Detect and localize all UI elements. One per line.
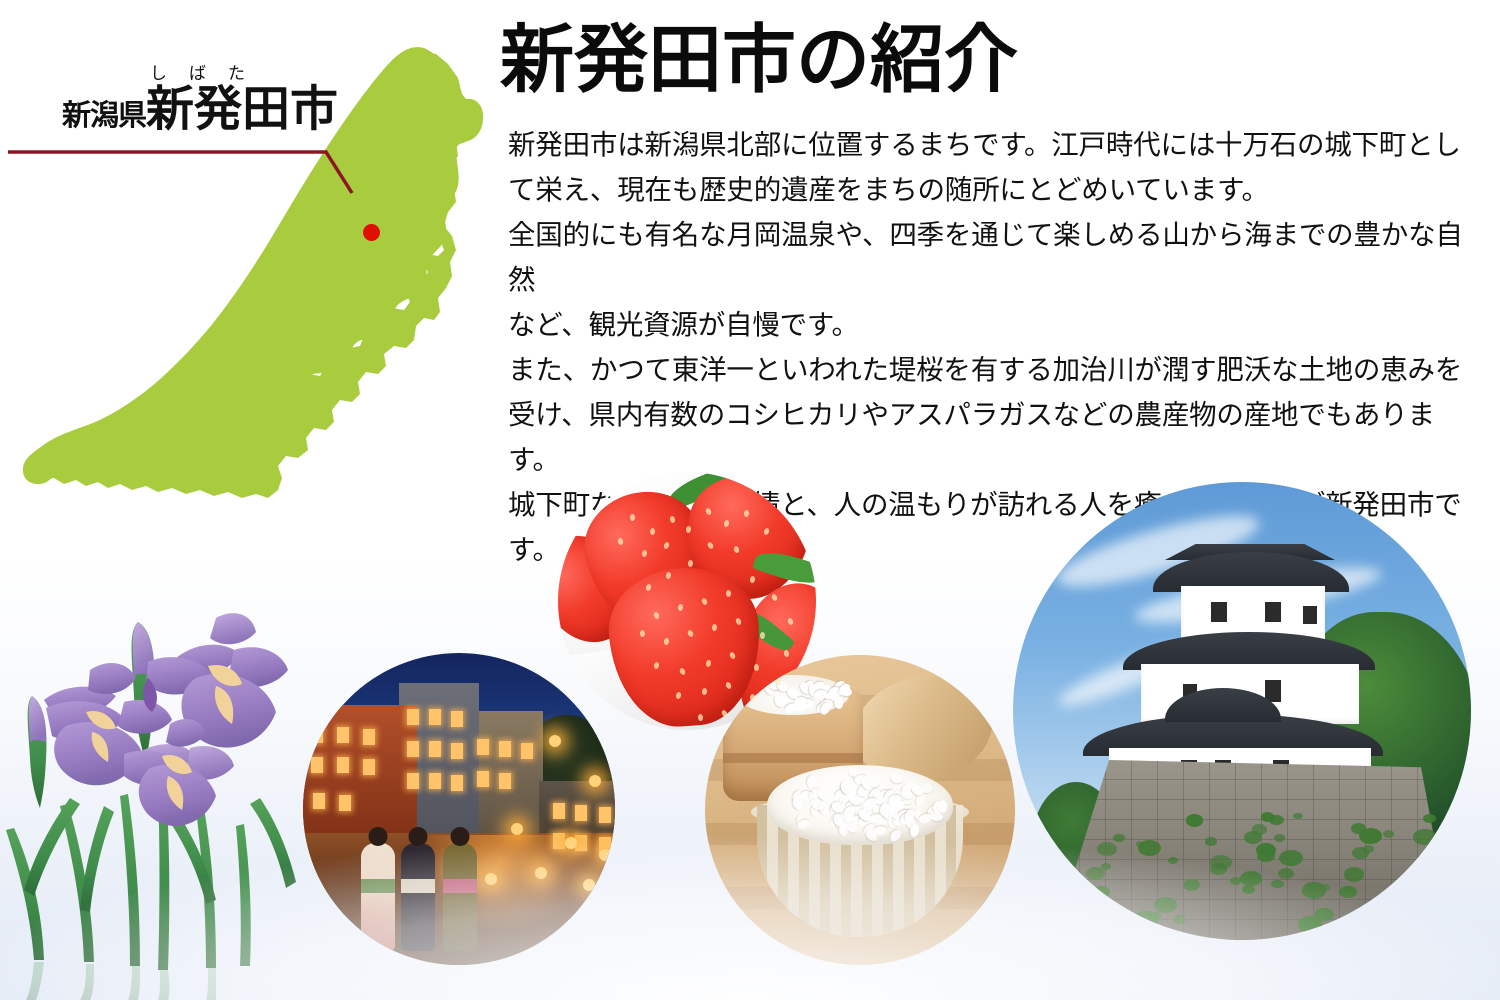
intro-line: また、かつて東洋一といわれた堤桜を有する加治川が潤す肥沃な土地の恵みを [508, 347, 1478, 392]
prefecture-name: 新潟県 [62, 100, 146, 132]
city-name: 新発田市 [146, 83, 338, 136]
intro-line: 新発田市は新潟県北部に位置するまちです。江戸時代には十万石の城下町とし [508, 122, 1478, 167]
iris-flowers [0, 600, 320, 1000]
intro-line: 受け、県内有数のコシヒカリやアスパラガスなどの農産物の産地でもあります。 [508, 392, 1478, 482]
page-title: 新発田市の紹介 [500, 24, 1018, 98]
iris-flower [143, 613, 288, 747]
shibata-castle-photo [1013, 482, 1471, 940]
city-label: 新潟県しばた新発田市 [18, 86, 338, 134]
rice-bowl-photo [705, 655, 1015, 965]
onsen-street-photo [303, 653, 615, 965]
city-name-ruby: しばた [150, 59, 342, 84]
intro-line: など、観光資源が自慢です。 [508, 302, 1478, 347]
intro-line: て栄え、現在も歴史的遺産をまちの随所にとどめいています。 [508, 167, 1478, 212]
poster-page: 新潟県しばた新発田市 新発田市の紹介 新発田市は新潟県北部に位置するまちです。江… [0, 0, 1500, 1000]
intro-line: 全国的にも有名な月岡温泉や、四季を通じて楽しめる山から海までの豊かな自然 [508, 212, 1478, 302]
map-city-marker [363, 224, 380, 241]
